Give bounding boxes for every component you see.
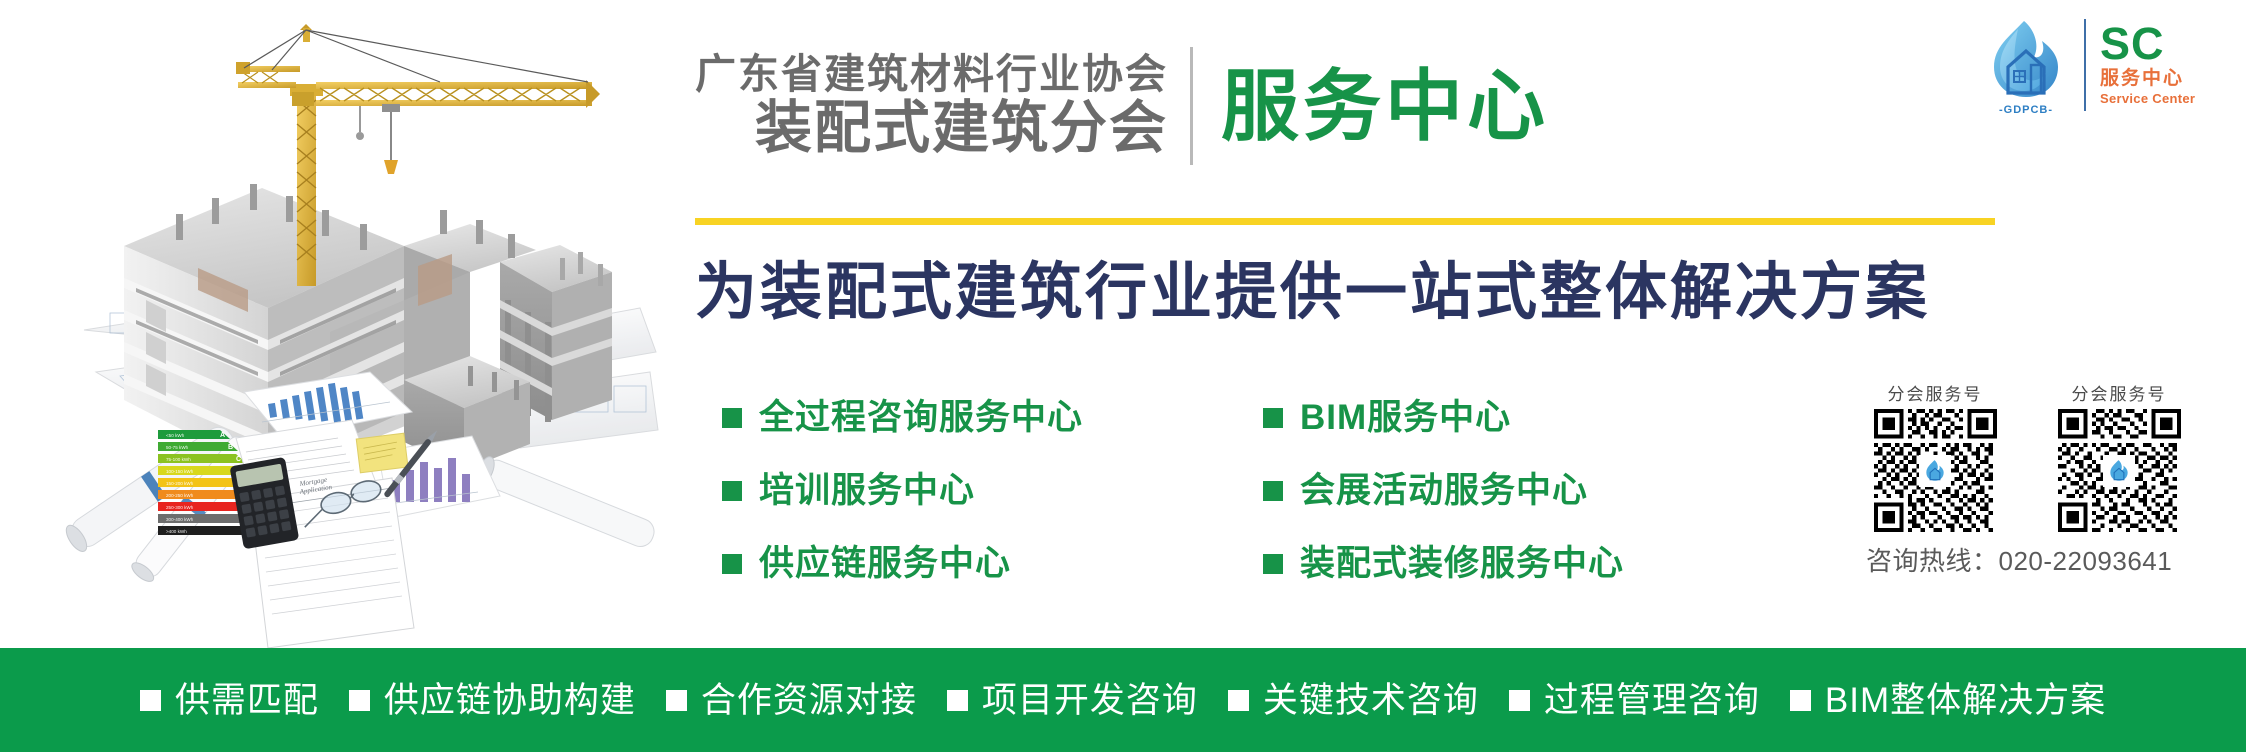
square-bullet-icon bbox=[722, 408, 742, 428]
bottom-bar-item-label: 关键技术咨询 bbox=[1263, 683, 1479, 718]
hotline-text: 咨询热线：020-22093641 bbox=[1866, 541, 2240, 578]
contact-block: 分会服务号 bbox=[1860, 386, 2240, 578]
svg-text:300-400 kWh: 300-400 kWh bbox=[166, 517, 194, 522]
promotional-banner: AB C DE F GH I <50 kWh 50-75 kWh 75-10 bbox=[0, 0, 2246, 752]
square-bullet-icon bbox=[1263, 481, 1283, 501]
svg-text:50-75 kWh: 50-75 kWh bbox=[166, 445, 189, 450]
qr-code-image-1[interactable] bbox=[1860, 409, 2010, 532]
house-flame-icon bbox=[1978, 15, 2074, 107]
bottom-bar-item-label: 过程管理咨询 bbox=[1544, 683, 1760, 718]
yellow-divider bbox=[695, 218, 1995, 225]
bottom-bar-item[interactable]: BIM整体解决方案 bbox=[1790, 683, 2106, 718]
square-bullet-icon bbox=[947, 690, 968, 711]
qr-center-logo-icon bbox=[1919, 455, 1951, 487]
qr-code-cell: 分会服务号 bbox=[2044, 386, 2194, 532]
svg-text:<50 kWh: <50 kWh bbox=[166, 433, 185, 438]
bottom-bar-item-label: BIM整体解决方案 bbox=[1825, 683, 2106, 718]
list-item[interactable]: 全过程咨询服务中心 bbox=[722, 400, 1083, 435]
svg-text:200-250 kWh: 200-250 kWh bbox=[166, 493, 194, 498]
hero-illustration: AB C DE F GH I <50 kWh 50-75 kWh 75-10 bbox=[0, 0, 660, 648]
tagline: 为装配式建筑行业提供一站式整体解决方案 bbox=[695, 254, 2005, 332]
square-bullet-icon bbox=[1509, 690, 1530, 711]
association-name: 广东省建筑材料行业协会 装配式建筑分会 bbox=[695, 52, 1190, 159]
square-bullet-icon bbox=[666, 690, 687, 711]
bottom-bar-item[interactable]: 供需匹配 bbox=[140, 683, 319, 718]
logo-wordmark: SC 服务中心 Service Center bbox=[2100, 23, 2195, 106]
bottom-bar-item-label: 供应链协助构建 bbox=[384, 683, 636, 718]
square-bullet-icon bbox=[1263, 554, 1283, 574]
gdpcb-emblem-icon: -GDPCB- bbox=[1978, 15, 2074, 115]
list-item[interactable]: 会展活动服务中心 bbox=[1263, 473, 1624, 508]
bottom-bar-item-list: 供需匹配 供应链协助构建 合作资源对接 项目开发咨询 关键技术咨询 过程管理咨询 bbox=[140, 683, 2106, 718]
logo-sc-text: SC bbox=[2100, 23, 2165, 66]
qr-code-cell: 分会服务号 bbox=[1860, 386, 2010, 532]
list-item[interactable]: BIM服务中心 bbox=[1263, 400, 1624, 435]
square-bullet-icon bbox=[349, 690, 370, 711]
bottom-bar-item[interactable]: 合作资源对接 bbox=[666, 683, 917, 718]
logo-abbreviation-caption: -GDPCB- bbox=[1978, 104, 2074, 116]
svg-text:250-300 kWh: 250-300 kWh bbox=[166, 505, 194, 510]
association-name-line1: 广东省建筑材料行业协会 bbox=[695, 52, 1168, 98]
svg-text:A: A bbox=[220, 432, 225, 439]
svg-text:75-100 kWh: 75-100 kWh bbox=[166, 457, 191, 462]
bottom-bar-item-label: 供需匹配 bbox=[175, 683, 319, 718]
svg-text:100-150 kWh: 100-150 kWh bbox=[166, 469, 194, 474]
qr-code-image-2[interactable] bbox=[2044, 409, 2194, 532]
bottom-bar-item[interactable]: 关键技术咨询 bbox=[1228, 683, 1479, 718]
bottom-service-bar: 供需匹配 供应链协助构建 合作资源对接 项目开发咨询 关键技术咨询 过程管理咨询 bbox=[0, 648, 2246, 752]
logo-divider bbox=[2084, 19, 2086, 111]
logo-name-cn: 服务中心 bbox=[2100, 68, 2184, 91]
service-column-right: BIM服务中心 会展活动服务中心 装配式装修服务中心 bbox=[1263, 400, 1624, 581]
bottom-bar-item-label: 项目开发咨询 bbox=[982, 683, 1198, 718]
list-item-label: BIM服务中心 bbox=[1300, 400, 1511, 435]
house-flame-icon-small bbox=[2106, 458, 2132, 484]
list-item-label: 会展活动服务中心 bbox=[1300, 473, 1588, 508]
association-branch-name: 装配式建筑分会 bbox=[755, 98, 1168, 160]
svg-text:B: B bbox=[228, 444, 233, 451]
qr-code-row: 分会服务号 bbox=[1860, 386, 2240, 532]
service-column-left: 全过程咨询服务中心 培训服务中心 供应链服务中心 bbox=[722, 400, 1083, 581]
list-item-label: 供应链服务中心 bbox=[759, 546, 1011, 581]
square-bullet-icon bbox=[1228, 690, 1249, 711]
service-center-title: 服务中心 bbox=[1193, 67, 1549, 145]
svg-text:C: C bbox=[236, 456, 241, 463]
list-item[interactable]: 培训服务中心 bbox=[722, 473, 1083, 508]
qr-code-caption: 分会服务号 bbox=[2044, 386, 2194, 403]
logo-name-en: Service Center bbox=[2100, 91, 2195, 107]
list-item-label: 全过程咨询服务中心 bbox=[759, 400, 1083, 435]
list-item[interactable]: 装配式装修服务中心 bbox=[1263, 546, 1624, 581]
qr-center-logo-icon bbox=[2103, 455, 2135, 487]
construction-scene-graphic: AB C DE F GH I <50 kWh 50-75 kWh 75-10 bbox=[0, 0, 660, 648]
square-bullet-icon bbox=[722, 481, 742, 501]
service-center-list: 全过程咨询服务中心 培训服务中心 供应链服务中心 BIM服务中心 会展活动服务中… bbox=[722, 400, 1624, 581]
qr-code-caption: 分会服务号 bbox=[1860, 386, 2010, 403]
list-item[interactable]: 供应链服务中心 bbox=[722, 546, 1083, 581]
svg-text:>400 kWh: >400 kWh bbox=[166, 529, 187, 534]
bottom-bar-item[interactable]: 过程管理咨询 bbox=[1509, 683, 1760, 718]
organization-logo: -GDPCB- SC 服务中心 Service Center bbox=[1978, 14, 2236, 116]
bottom-bar-item[interactable]: 供应链协助构建 bbox=[349, 683, 636, 718]
header-title-block: 广东省建筑材料行业协会 装配式建筑分会 服务中心 bbox=[695, 38, 2005, 173]
bottom-bar-item-label: 合作资源对接 bbox=[701, 683, 917, 718]
svg-text:150-200 kWh: 150-200 kWh bbox=[166, 481, 194, 486]
house-flame-icon-small bbox=[1922, 458, 1948, 484]
square-bullet-icon bbox=[1790, 690, 1811, 711]
list-item-label: 培训服务中心 bbox=[759, 473, 975, 508]
square-bullet-icon bbox=[1263, 408, 1283, 428]
bottom-bar-item[interactable]: 项目开发咨询 bbox=[947, 683, 1198, 718]
list-item-label: 装配式装修服务中心 bbox=[1300, 546, 1624, 581]
square-bullet-icon bbox=[722, 554, 742, 574]
square-bullet-icon bbox=[140, 690, 161, 711]
